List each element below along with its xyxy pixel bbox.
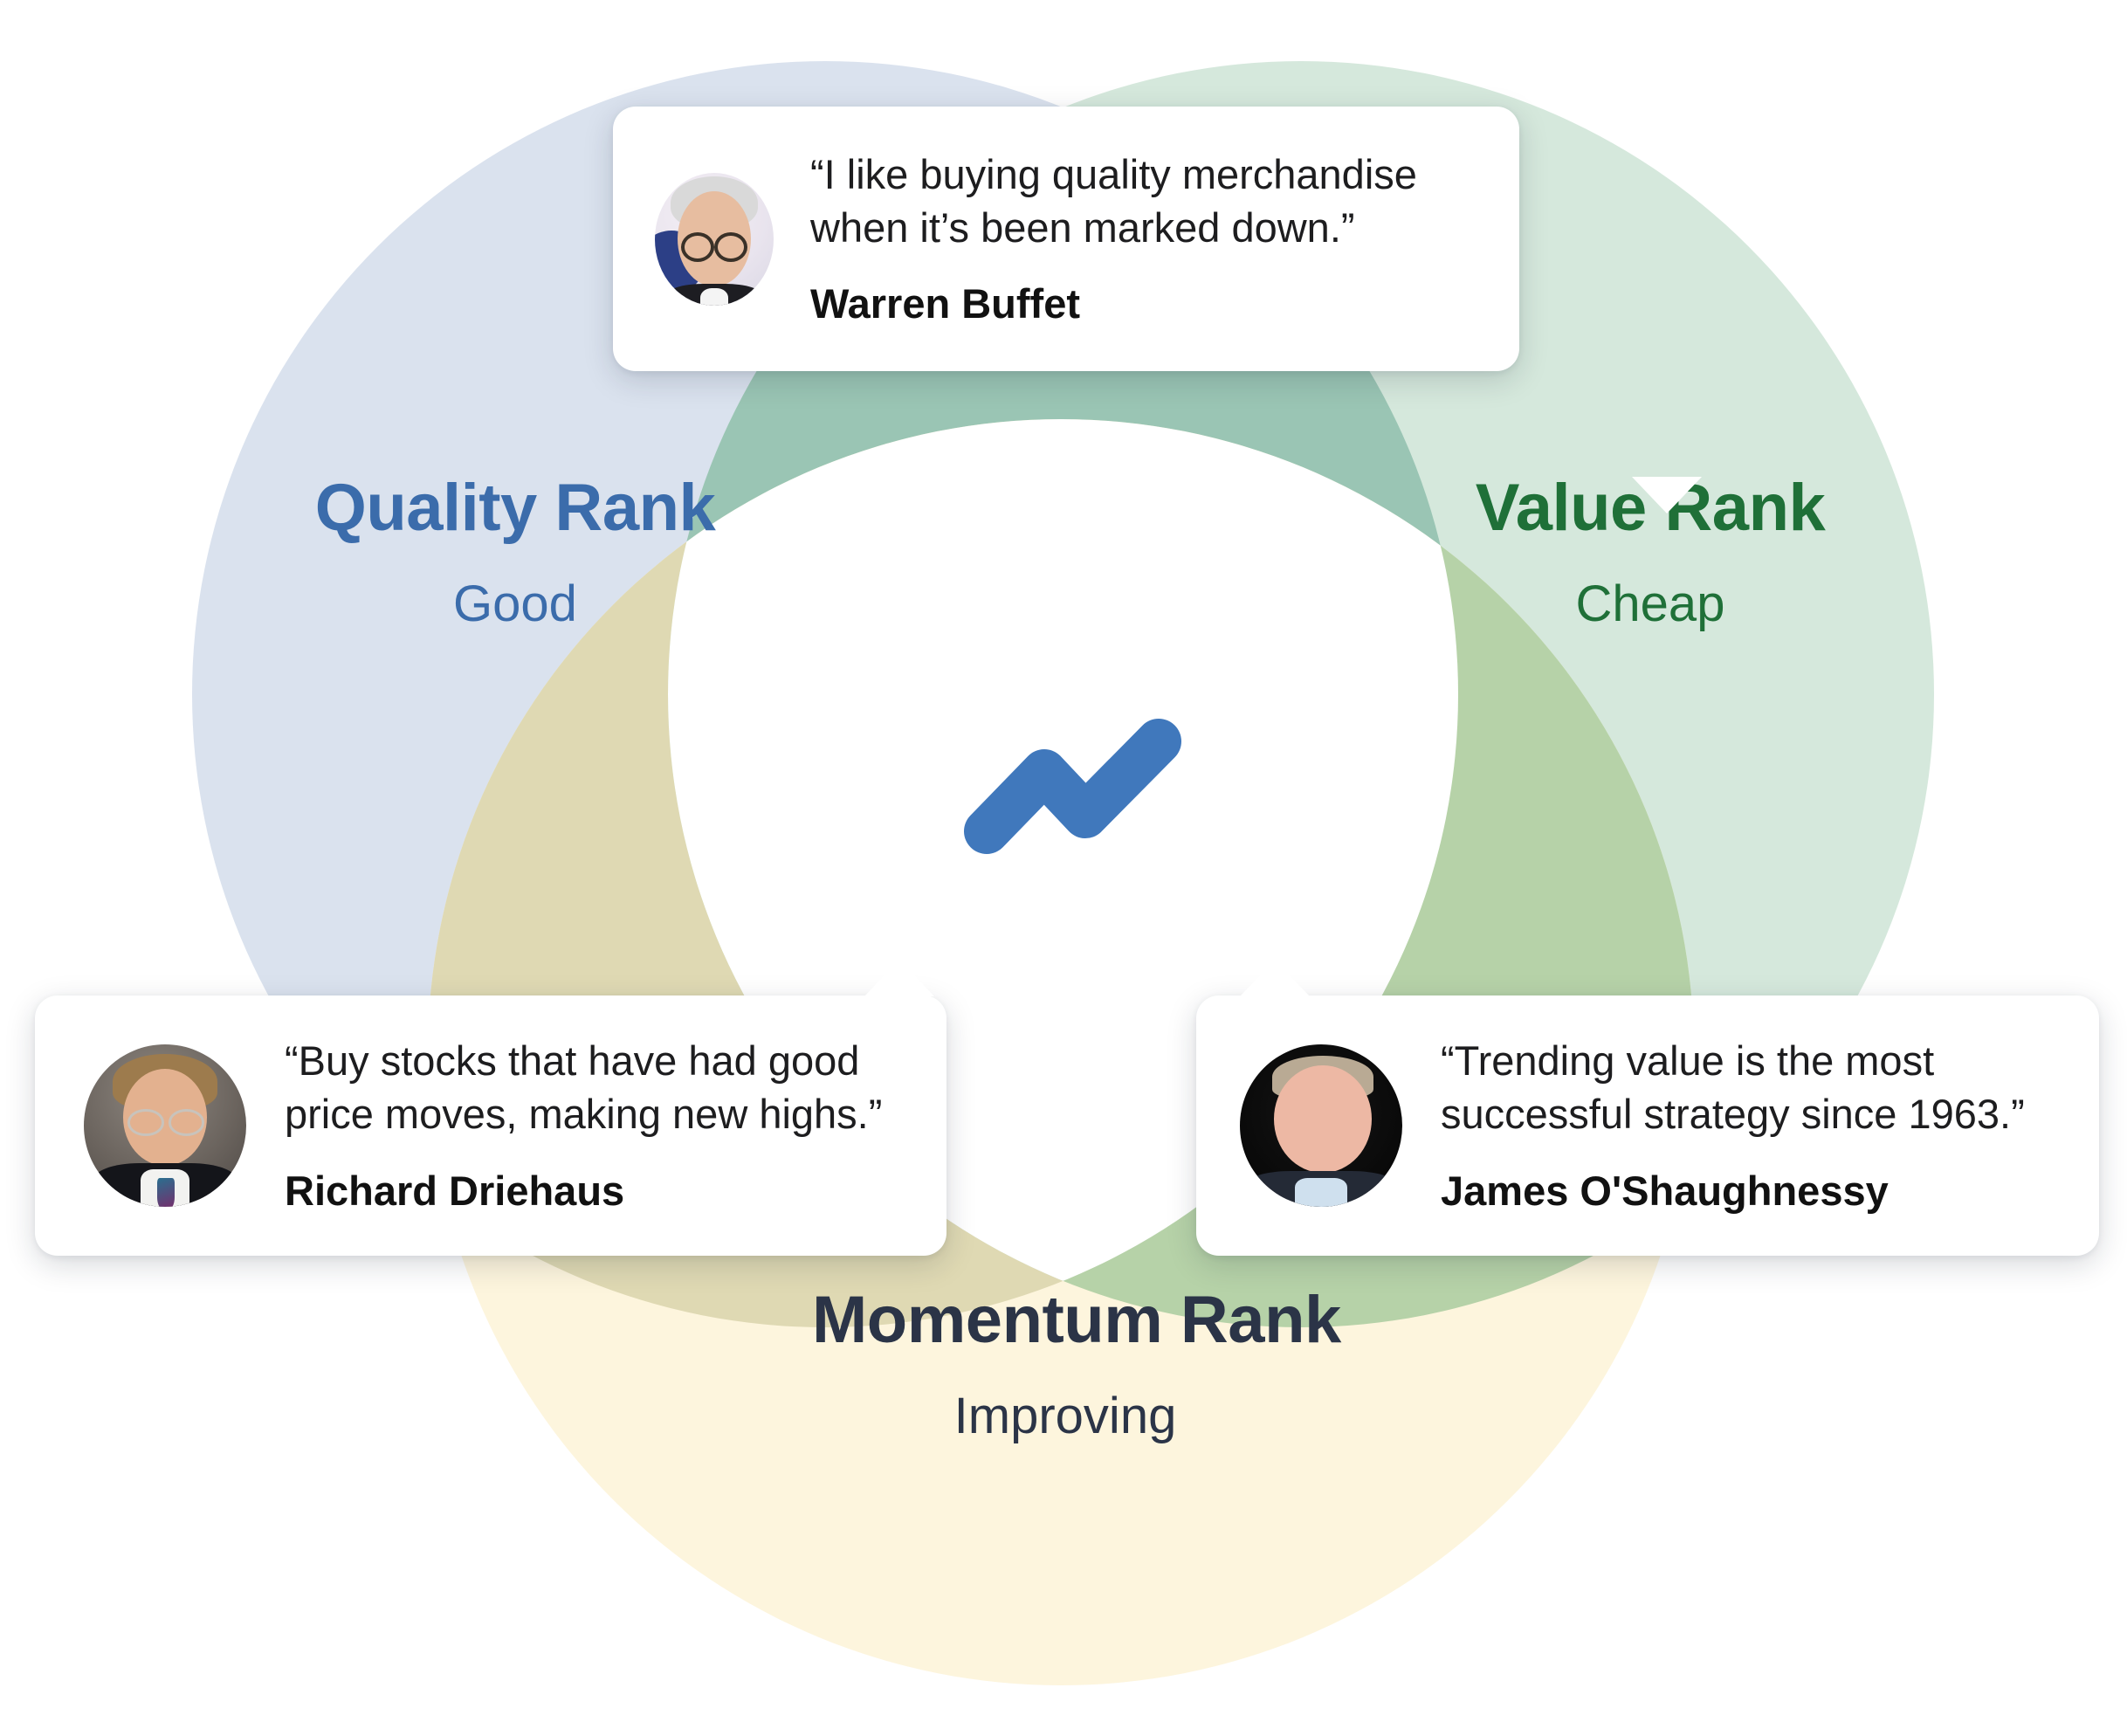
quote-text-line-2: when it’s been marked down.”: [810, 201, 1481, 254]
quote-text-line-1: “Trending value is the most: [1441, 1034, 2068, 1087]
quality-rank-title: Quality Rank: [271, 472, 760, 545]
card-tail-pointer: [864, 960, 934, 996]
quote-body: “Buy stocks that have had good price mov…: [285, 1034, 912, 1216]
quote-body: “Trending value is the most successful s…: [1441, 1034, 2068, 1216]
momentum-rank-subtitle: Improving: [812, 1388, 1318, 1444]
quote-text-line-1: “Buy stocks that have had good: [285, 1034, 912, 1087]
quote-text-line-2: price moves, making new highs.”: [285, 1087, 912, 1140]
quote-author: Richard Driehaus: [285, 1164, 912, 1217]
card-tail-pointer: [1632, 477, 1702, 513]
warren-buffet-portrait: [655, 173, 774, 306]
richard-driehaus-portrait: [84, 1044, 246, 1207]
quote-text-line-1: “I like buying quality merchandise: [810, 148, 1481, 201]
quote-text-line-2: successful strategy since 1963.”: [1441, 1087, 2068, 1140]
label-momentum-rank: Momentum Rank Improving: [812, 1284, 1318, 1443]
quality-rank-subtitle: Good: [271, 576, 760, 632]
label-quality-rank: Quality Rank Good: [271, 472, 760, 631]
quote-card-oshaughnessy[interactable]: “Trending value is the most successful s…: [1196, 995, 2099, 1256]
venn-diagram-stage: Quality Rank Good Value Rank Cheap Momen…: [0, 0, 2127, 1736]
quote-card-driehaus[interactable]: “Buy stocks that have had good price mov…: [35, 995, 946, 1256]
quote-author: James O'Shaughnessy: [1441, 1164, 2068, 1217]
quote-card-buffet[interactable]: “I like buying quality merchandise when …: [613, 107, 1519, 371]
card-tail-pointer: [1240, 960, 1310, 996]
momentum-rank-title: Momentum Rank: [812, 1284, 1318, 1357]
value-rank-subtitle: Cheap: [1406, 576, 1895, 632]
quote-body: “I like buying quality merchandise when …: [810, 148, 1481, 330]
quote-author: Warren Buffet: [810, 277, 1481, 330]
james-oshaughnessy-portrait: [1240, 1044, 1402, 1207]
